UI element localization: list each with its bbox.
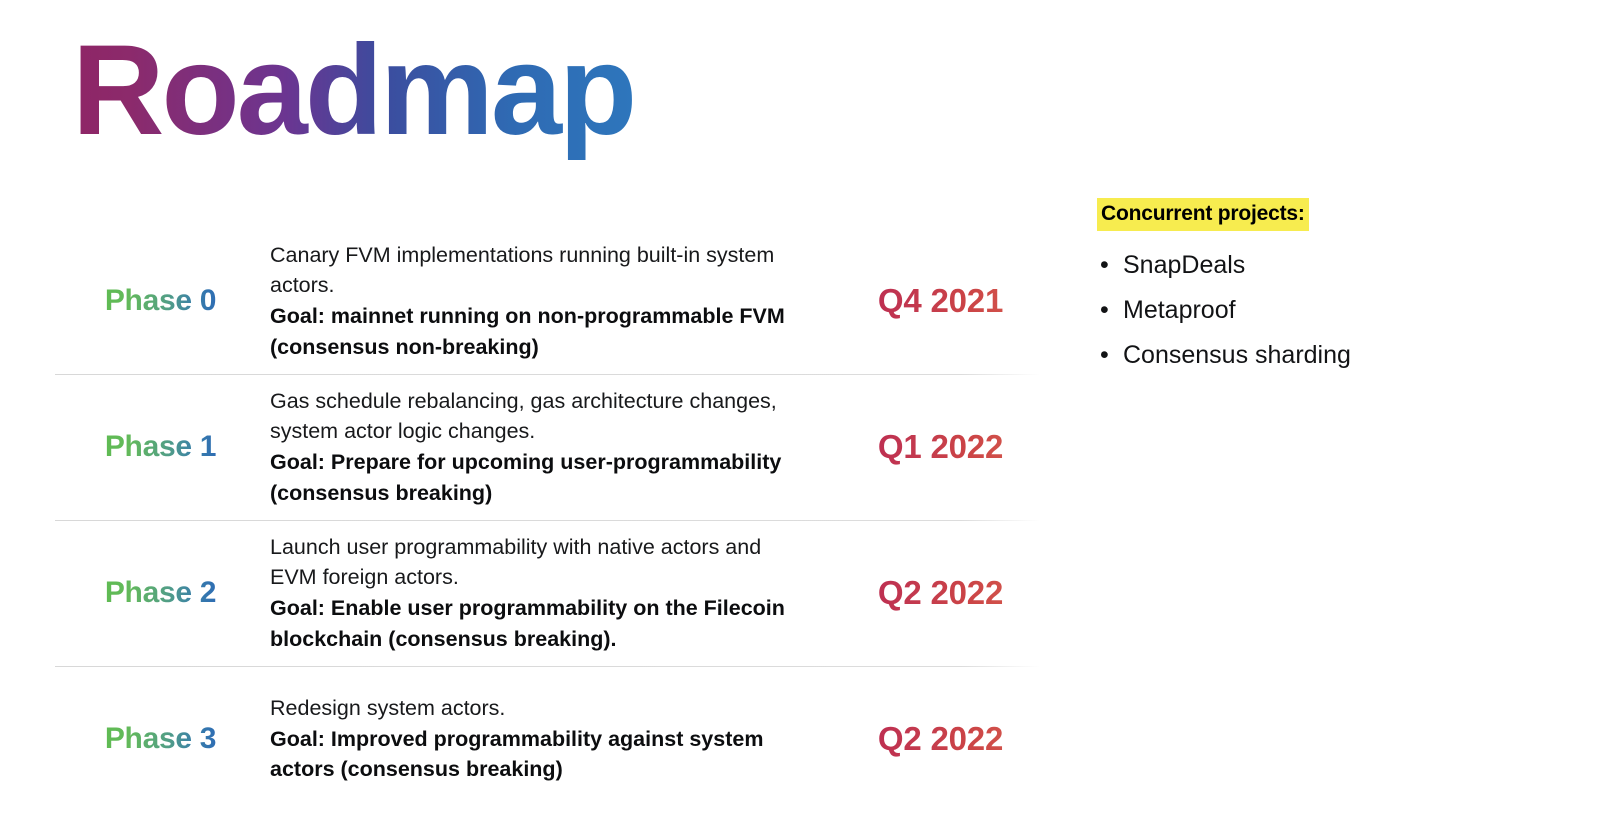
bullet-icon: • xyxy=(1100,298,1109,323)
phase-goal: Goal: Prepare for upcoming user-programm… xyxy=(270,447,812,508)
concurrent-projects-panel: Concurrent projects: • SnapDeals • Metap… xyxy=(1097,198,1517,388)
date-cell: Q2 2022 xyxy=(830,574,1045,612)
phase-cell: Phase 0 xyxy=(55,284,270,318)
phase-description: Launch user programmability with native … xyxy=(270,532,812,593)
table-row: Phase 1 Gas schedule rebalancing, gas ar… xyxy=(55,374,1045,520)
table-row: Phase 3 Redesign system actors. Goal: Im… xyxy=(55,666,1045,812)
phase-cell: Phase 3 xyxy=(55,722,270,756)
phase-goal: Goal: mainnet running on non-programmabl… xyxy=(270,301,812,362)
roadmap-table: Phase 0 Canary FVM implementations runni… xyxy=(55,228,1045,812)
phase-label: Phase 0 xyxy=(105,284,216,318)
phase-label: Phase 1 xyxy=(105,430,216,464)
bullet-icon: • xyxy=(1100,253,1109,278)
list-item-label: SnapDeals xyxy=(1123,251,1245,279)
phase-description: Redesign system actors. xyxy=(270,693,812,724)
list-item-label: Metaproof xyxy=(1123,296,1236,324)
phase-cell: Phase 2 xyxy=(55,576,270,610)
concurrent-projects-heading: Concurrent projects: xyxy=(1097,198,1309,231)
list-item: • Consensus sharding xyxy=(1097,343,1517,368)
description-cell: Canary FVM implementations running built… xyxy=(270,240,830,362)
phase-goal: Goal: Improved programmability against s… xyxy=(270,724,812,785)
phase-date: Q1 2022 xyxy=(878,428,1003,466)
date-cell: Q1 2022 xyxy=(830,428,1045,466)
date-cell: Q4 2021 xyxy=(830,282,1045,320)
date-cell: Q2 2022 xyxy=(830,720,1045,758)
page-title: Roadmap xyxy=(72,22,634,160)
phase-goal: Goal: Enable user programmability on the… xyxy=(270,593,812,654)
roadmap-slide: Roadmap Phase 0 Canary FVM implementatio… xyxy=(0,0,1598,838)
phase-description: Gas schedule rebalancing, gas architectu… xyxy=(270,386,812,447)
list-item: • Metaproof xyxy=(1097,298,1517,323)
table-row: Phase 0 Canary FVM implementations runni… xyxy=(55,228,1045,374)
phase-description: Canary FVM implementations running built… xyxy=(270,240,812,301)
list-item-label: Consensus sharding xyxy=(1123,341,1351,369)
phase-date: Q4 2021 xyxy=(878,282,1003,320)
phase-label: Phase 2 xyxy=(105,576,216,610)
description-cell: Redesign system actors. Goal: Improved p… xyxy=(270,693,830,785)
description-cell: Launch user programmability with native … xyxy=(270,532,830,654)
phase-date: Q2 2022 xyxy=(878,720,1003,758)
description-cell: Gas schedule rebalancing, gas architectu… xyxy=(270,386,830,508)
phase-date: Q2 2022 xyxy=(878,574,1003,612)
table-row: Phase 2 Launch user programmability with… xyxy=(55,520,1045,666)
list-item: • SnapDeals xyxy=(1097,253,1517,278)
bullet-icon: • xyxy=(1100,343,1109,368)
concurrent-projects-list: • SnapDeals • Metaproof • Consensus shar… xyxy=(1097,253,1517,368)
phase-cell: Phase 1 xyxy=(55,430,270,464)
phase-label: Phase 3 xyxy=(105,722,216,756)
